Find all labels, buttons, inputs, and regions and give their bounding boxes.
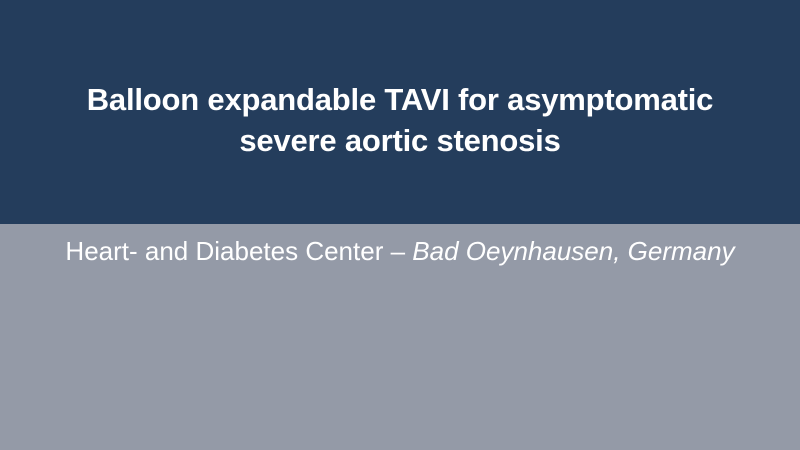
presentation-slide: Balloon expandable TAVI for asymptomatic… <box>0 0 800 450</box>
subtitle-institution: Heart- and Diabetes Center – <box>65 236 412 266</box>
slide-subtitle: Heart- and Diabetes Center – Bad Oeynhau… <box>50 232 750 270</box>
subtitle-location: Bad Oeynhausen, Germany <box>412 236 734 266</box>
title-band: Balloon expandable TAVI for asymptomatic… <box>0 0 800 224</box>
subtitle-band: Heart- and Diabetes Center – Bad Oeynhau… <box>0 224 800 450</box>
slide-title: Balloon expandable TAVI for asymptomatic… <box>50 63 750 161</box>
